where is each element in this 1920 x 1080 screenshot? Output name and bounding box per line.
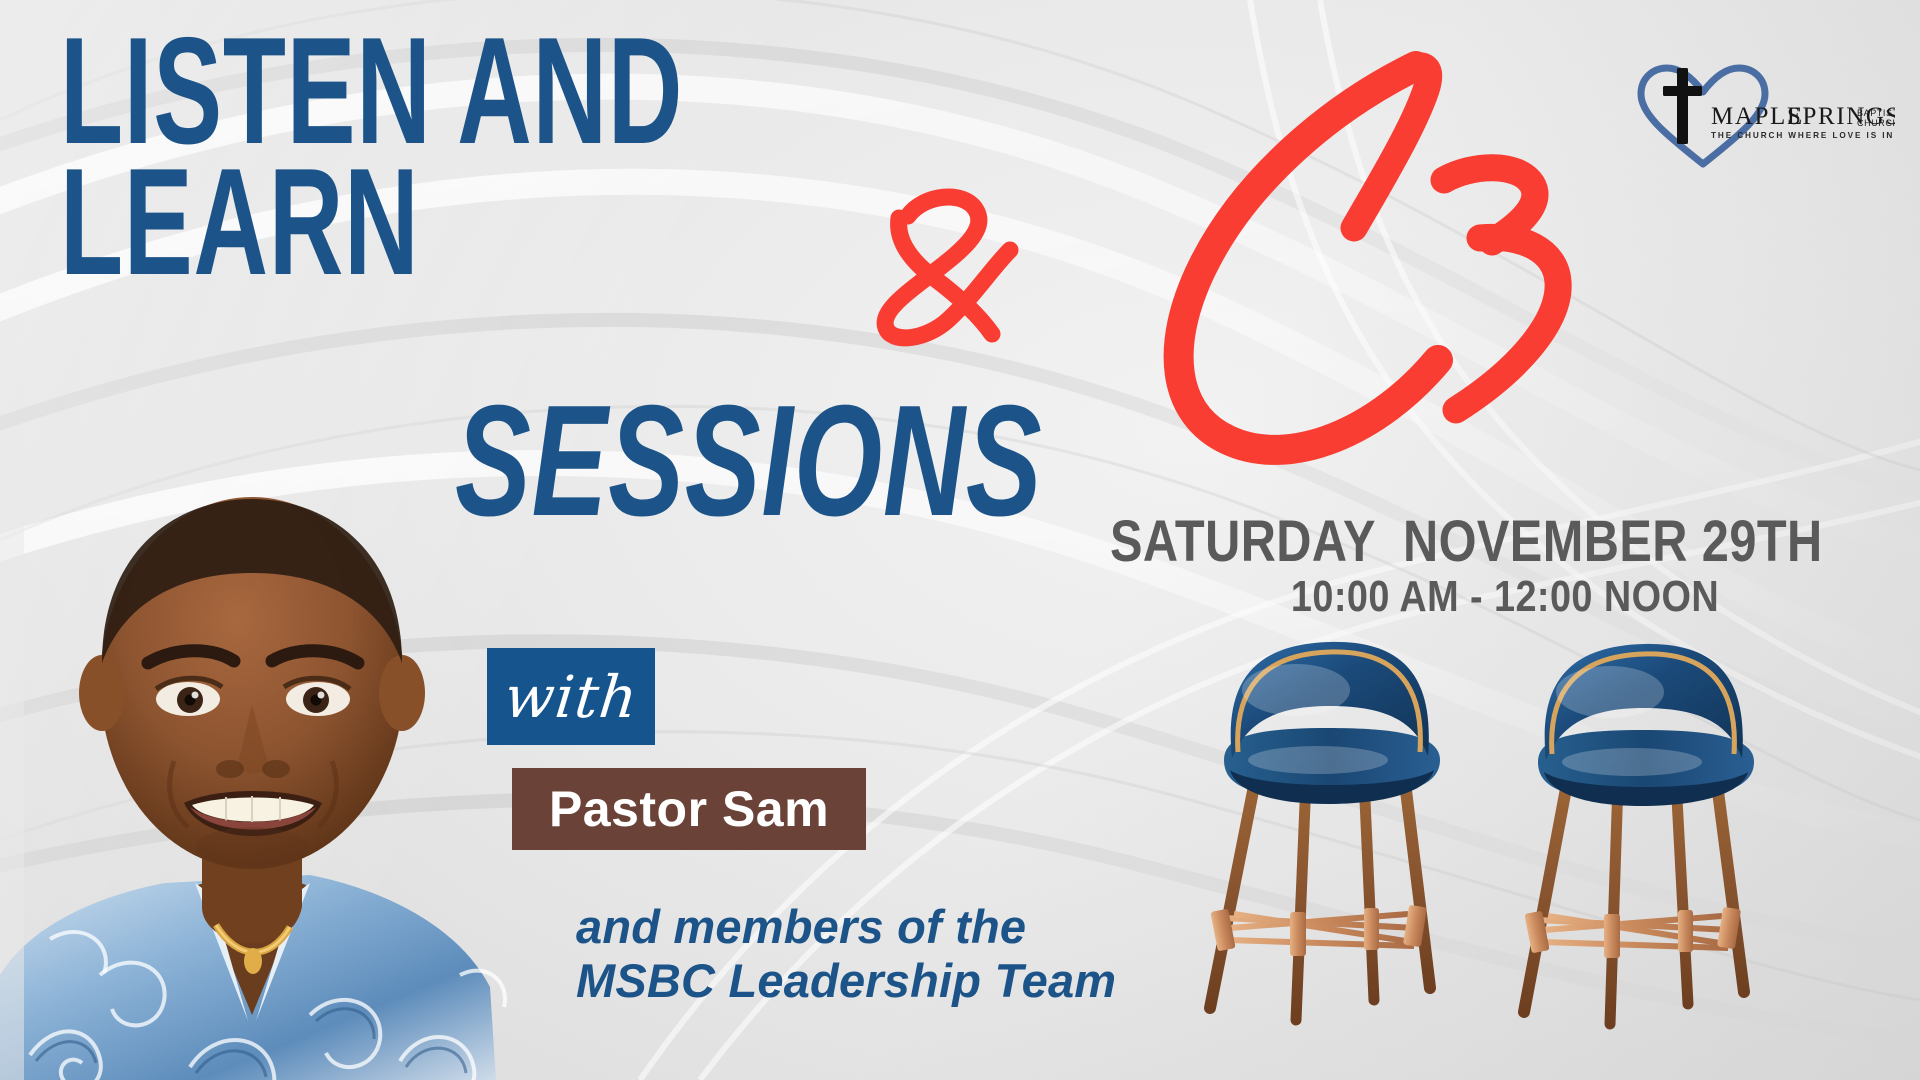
event-date: SATURDAY NOVEMBER 29TH [1110, 508, 1774, 575]
closing-line-2: MSBC Leadership Team [576, 954, 1116, 1007]
bar-stools-image [1178, 628, 1818, 1080]
event-time: 10:00 AM - 12:00 NOON [1165, 572, 1844, 622]
church-logo: MAPLE SPRINGS BAPTIST CHURCH THE CHURCH … [1625, 52, 1895, 172]
closing-line-1: and members of the [576, 900, 1026, 953]
ampersand-icon [852, 168, 1042, 358]
logo-sub-baptist: BAPTIST [1857, 108, 1895, 118]
logo-sub-church: CHURCH [1857, 118, 1895, 128]
page-title: LISTEN ANDLEARN [60, 26, 683, 287]
c3-series-mark [1120, 20, 1600, 490]
closing-text: and members of theMSBC Leadership Team [576, 900, 1116, 1007]
logo-tagline: THE CHURCH WHERE LOVE IS IN ACTION [1711, 131, 1895, 140]
flyer-canvas: LISTEN ANDLEARN SESSIONS SATURDAY NOVEMB… [0, 0, 1920, 1080]
pastor-portrait [0, 455, 600, 1080]
headline-line-2: LEARN [60, 137, 419, 307]
